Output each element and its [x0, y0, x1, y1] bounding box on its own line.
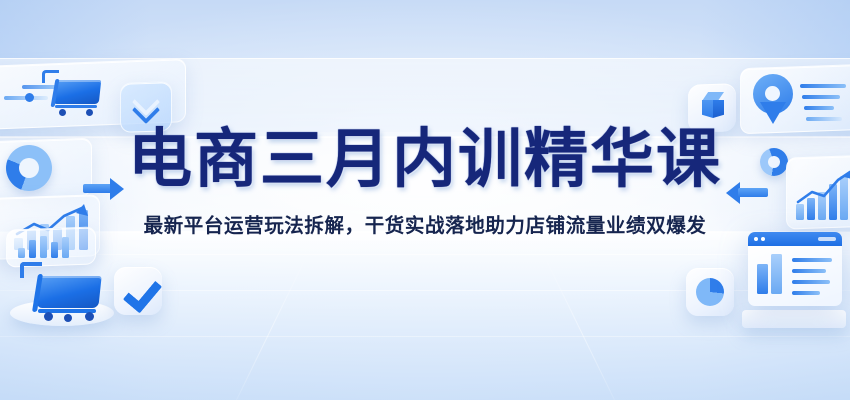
panel-dot — [25, 93, 34, 102]
window-line — [792, 291, 820, 295]
chevron-double-down-icon — [132, 92, 160, 122]
browser-window-icon — [748, 232, 842, 306]
pie-chart-icon — [696, 278, 726, 308]
promo-banner: 电商三月内训精华课 最新平台运营玩法拆解，干货实战落地助力店铺流量业绩双爆发 — [0, 0, 850, 400]
headline-block: 电商三月内训精华课 最新平台运营玩法拆解，干货实战落地助力店铺流量业绩双爆发 — [0, 128, 850, 238]
window-line — [792, 280, 830, 284]
perspective-floor — [0, 232, 850, 400]
window-bar — [771, 254, 782, 294]
panel-line — [804, 106, 834, 110]
shopping-cart-icon — [20, 262, 106, 320]
floor-line — [0, 336, 850, 337]
dashboard-platform — [742, 310, 846, 328]
floor-line — [0, 254, 850, 255]
page-subtitle: 最新平台运营玩法拆解，干货实战落地助力店铺流量业绩双爆发 — [0, 209, 850, 238]
browser-content — [748, 246, 842, 306]
window-line — [792, 258, 832, 262]
panel-line — [806, 117, 842, 121]
location-pin-icon — [752, 74, 794, 126]
window-bar — [757, 264, 768, 294]
page-title: 电商三月内训精华课 — [0, 128, 850, 193]
window-line — [792, 269, 826, 273]
shopping-cart-icon — [42, 68, 104, 118]
panel-line — [800, 84, 846, 88]
panel-line — [802, 95, 840, 99]
cube-icon — [700, 92, 728, 122]
